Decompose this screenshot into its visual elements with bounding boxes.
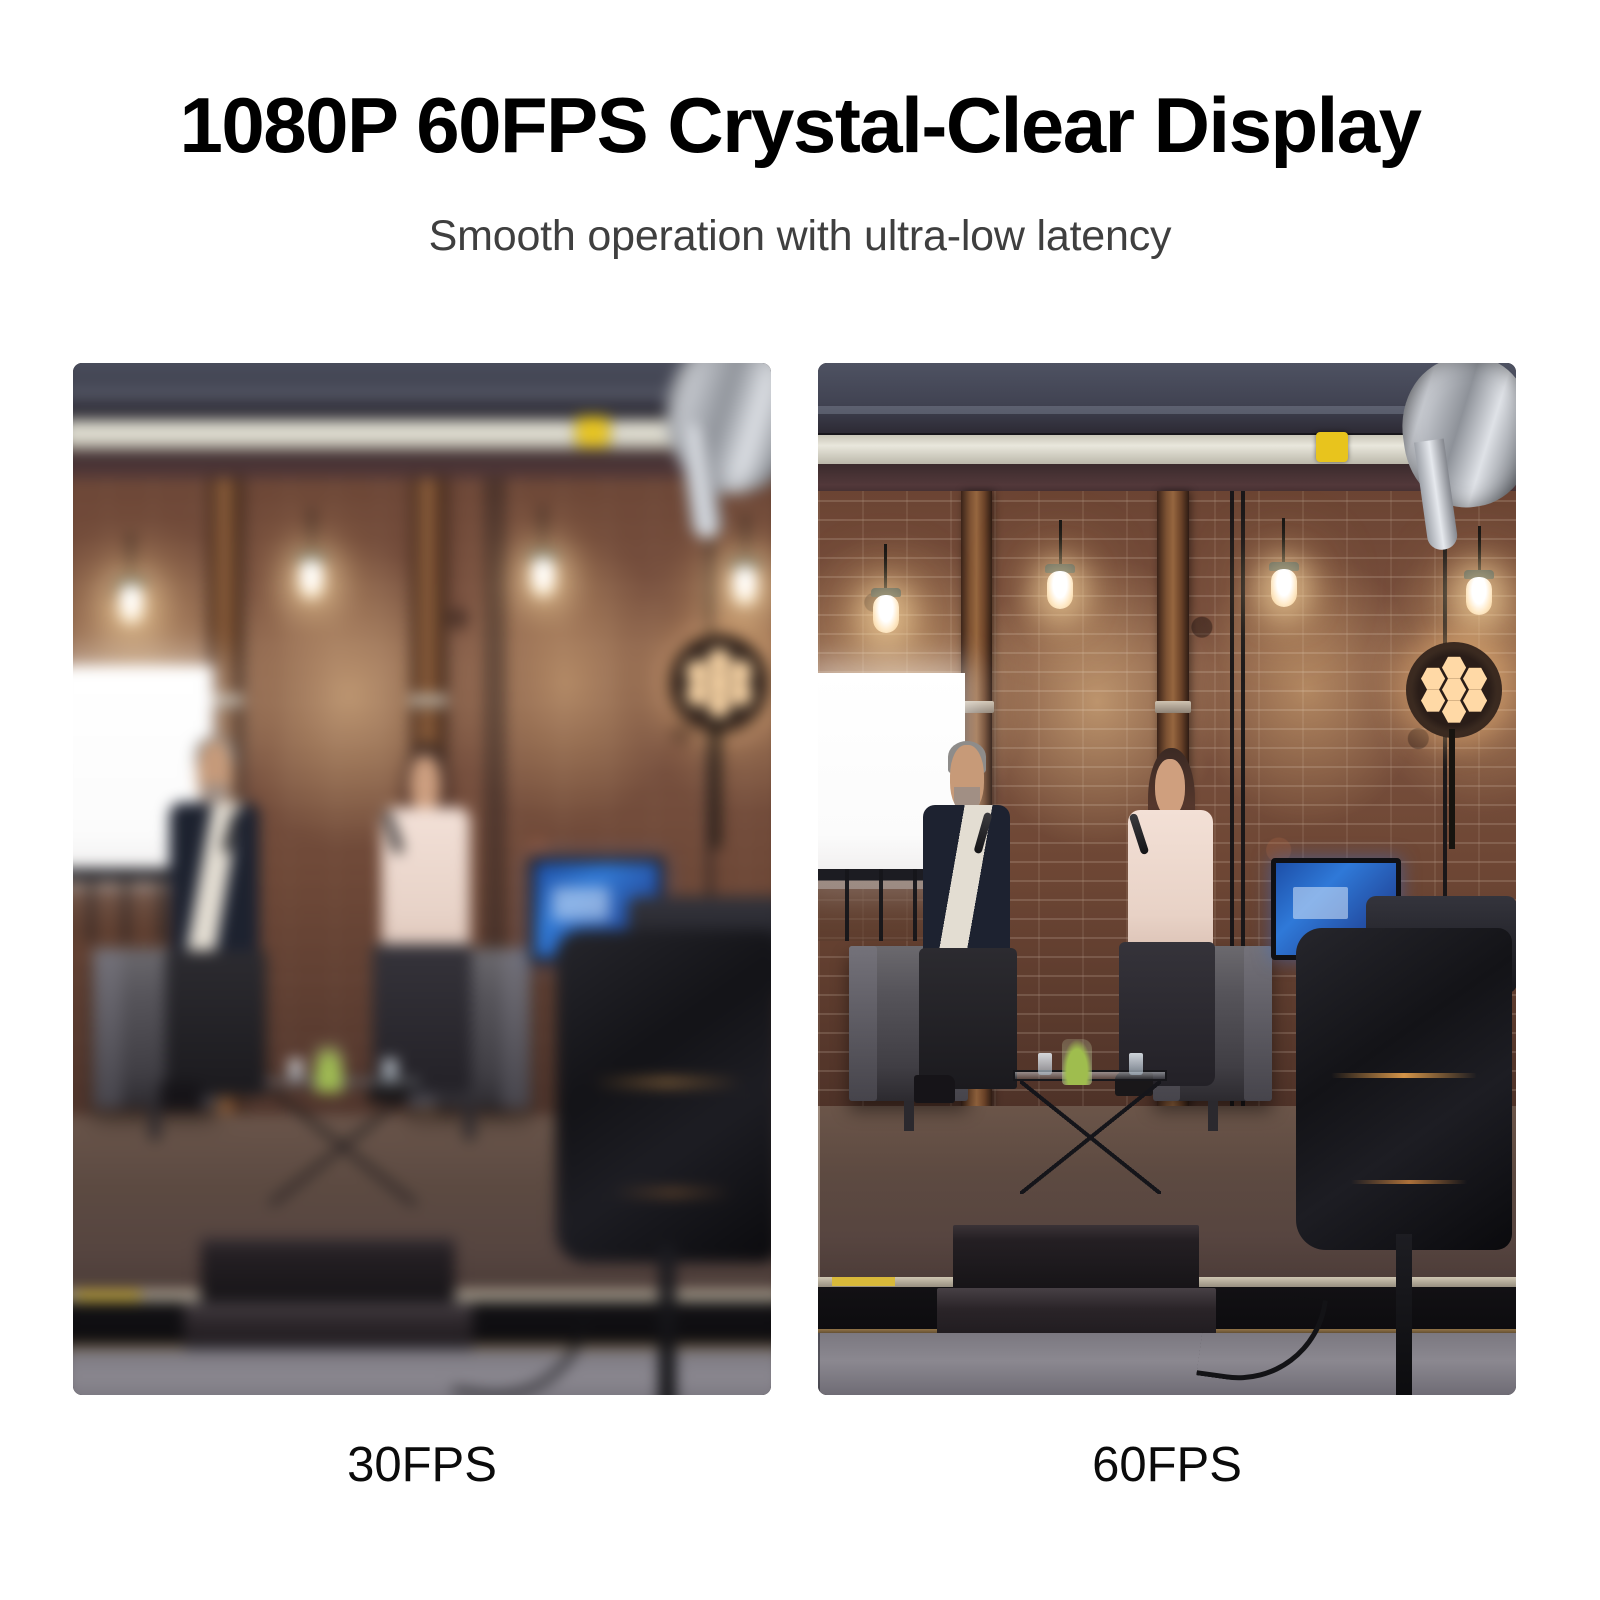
coffee-table	[1013, 1070, 1167, 1194]
water-glass	[1129, 1053, 1143, 1075]
water-glass	[382, 1059, 396, 1082]
product-feature-page: 1080P 60FPS Crystal-Clear Display Smooth…	[0, 0, 1600, 1600]
potted-plant	[1062, 1039, 1092, 1085]
caption-60fps: 60FPS	[818, 1441, 1516, 1490]
water-glass	[288, 1059, 302, 1082]
hexagonal-stage-light	[669, 633, 768, 732]
potted-plant	[314, 1045, 345, 1093]
page-subtitle: Smooth operation with ultra-low latency	[0, 215, 1600, 258]
camera-tripod	[659, 1246, 676, 1395]
female-speaker	[368, 751, 484, 1103]
scene-blurred	[73, 363, 771, 1395]
male-speaker	[912, 745, 1024, 1096]
camera-body	[555, 930, 771, 1263]
column-collar	[1155, 701, 1191, 713]
light-stand	[714, 724, 720, 848]
page-title: 1080P 60FPS Crystal-Clear Display	[0, 86, 1600, 164]
caption-30fps: 30FPS	[73, 1441, 771, 1490]
broadcast-camera	[545, 858, 771, 1395]
yellow-hoist-icon	[1316, 432, 1348, 462]
column-collar	[409, 695, 446, 707]
male-speaker	[158, 740, 274, 1103]
coffee-table	[263, 1077, 422, 1205]
comparison-image-30fps	[73, 363, 771, 1395]
female-speaker	[1115, 755, 1227, 1096]
comparison-image-60fps	[818, 363, 1516, 1395]
water-glass	[1038, 1053, 1052, 1075]
camera-body	[1296, 928, 1512, 1250]
scene-sharp	[818, 363, 1516, 1395]
broadcast-camera	[1286, 858, 1516, 1395]
hexagonal-stage-light	[1406, 642, 1502, 738]
warning-tape	[75, 1291, 140, 1300]
warning-tape	[832, 1277, 895, 1286]
yellow-hoist-icon	[577, 416, 610, 447]
light-stand	[1449, 729, 1455, 849]
camera-tripod	[1396, 1234, 1412, 1395]
